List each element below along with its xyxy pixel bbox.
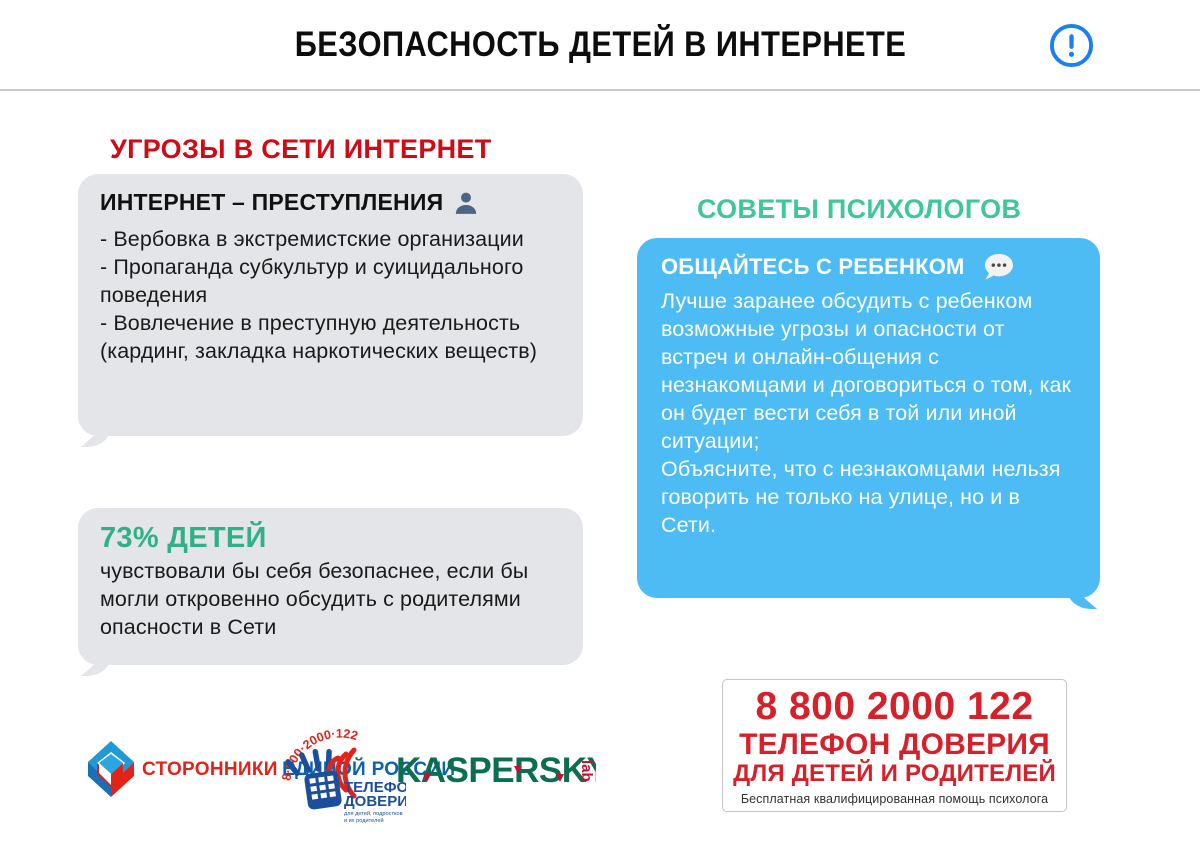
person-icon: [453, 190, 479, 216]
hotline-box: 8 800 2000 122 ТЕЛЕФОН ДОВЕРИЯ ДЛЯ ДЕТЕЙ…: [722, 679, 1067, 812]
advice-bubble: ОБЩАЙТЕСЬ С РЕБЕНКОМ Лучше заранее обсуд…: [637, 238, 1100, 598]
speech-balloon-icon: [979, 252, 1017, 282]
svg-text:и их родителей: и их родителей: [344, 817, 384, 824]
threats-bubble-title: ИНТЕРНЕТ – ПРЕСТУПЛЕНИЯ: [100, 190, 561, 216]
exclamation-circle-icon: [1048, 22, 1095, 69]
kaspersky-logo: KASPERSKY lab: [396, 748, 596, 794]
page-title: БЕЗОПАСНОСТЬ ДЕТЕЙ В ИНТЕРНЕТЕ: [294, 25, 906, 65]
threats-section-heading: УГРОЗЫ В СЕТИ ИНТЕРНЕТ: [110, 134, 492, 165]
page-header: БЕЗОПАСНОСТЬ ДЕТЕЙ В ИНТЕРНЕТЕ: [0, 0, 1200, 89]
hotline-number: 8 800 2000 122: [723, 687, 1066, 726]
advice-bubble-title: ОБЩАЙТЕСЬ С РЕБЕНКОМ: [661, 252, 1076, 282]
advice-section-heading: СОВЕТЫ ПСИХОЛОГОВ: [697, 194, 1021, 225]
statistic-body: чувствовали бы себя безопаснее, если бы …: [100, 558, 561, 642]
svg-text:для детей, подростков: для детей, подростков: [344, 810, 403, 817]
threats-bubble: ИНТЕРНЕТ – ПРЕСТУПЛЕНИЯ - Вербовка в экс…: [78, 174, 583, 436]
header-divider: [0, 89, 1200, 91]
advice-bubble-body: Лучше заранее обсудить с ребенком возмож…: [661, 287, 1076, 539]
svg-text:lab: lab: [578, 760, 595, 782]
svg-text:ДОВЕРИЯ: ДОВЕРИЯ: [344, 793, 406, 810]
hotline-line2: ДЛЯ ДЕТЕЙ И РОДИТЕЛЕЙ: [723, 761, 1066, 786]
supporters-logo-line1: СТОРОННИКИ: [142, 759, 278, 780]
advice-bubble-title-text: ОБЩАЙТЕСЬ С РЕБЕНКОМ: [661, 255, 965, 279]
statistic-number: 73% ДЕТЕЙ: [100, 522, 561, 555]
diamond-icon: [86, 740, 136, 798]
threats-bubble-title-text: ИНТЕРНЕТ – ПРЕСТУПЛЕНИЯ: [100, 190, 443, 215]
hotline-line1: ТЕЛЕФОН ДОВЕРИЯ: [723, 729, 1066, 761]
hotline-note: Бесплатная квалифицированная помощь псих…: [723, 792, 1066, 806]
statistic-bubble: 73% ДЕТЕЙ чувствовали бы себя безопаснее…: [78, 508, 583, 665]
trust-phone-logo: 8·800·2000·122 ТЕЛЕФОН: [276, 712, 406, 824]
threats-bubble-body: - Вербовка в экстремистские организации …: [100, 226, 561, 366]
logo-row: СТОРОННИКИ ЕДИНОЙ РОССИИ 8·800·2000·122: [78, 712, 598, 827]
svg-text:KASPERSKY: KASPERSKY: [396, 751, 596, 790]
